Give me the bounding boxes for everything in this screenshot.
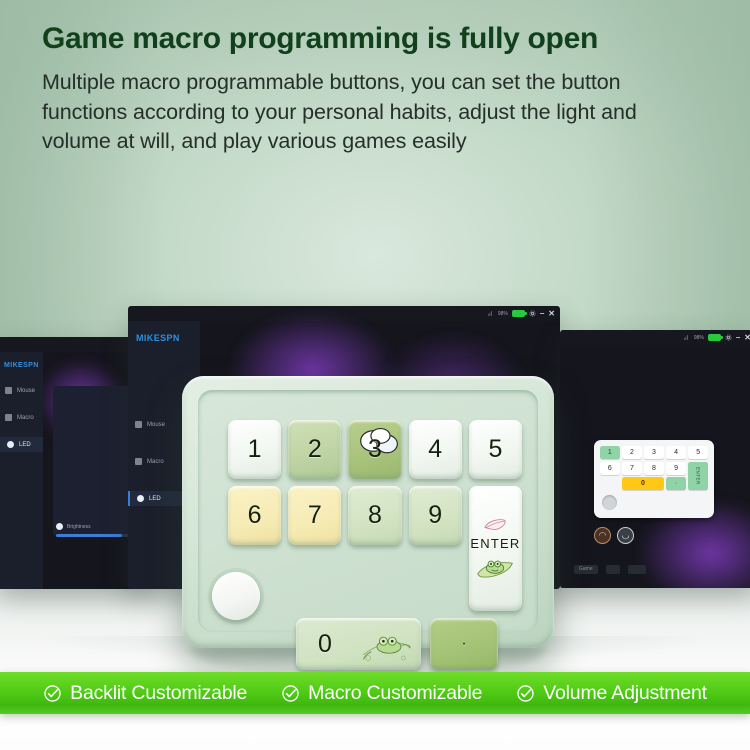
- feature-label: Backlit Customizable: [70, 682, 247, 705]
- key-3[interactable]: 3: [348, 420, 401, 479]
- key-label: 4: [428, 435, 442, 464]
- leaf-icon: [483, 518, 507, 531]
- key-label: ·: [461, 635, 466, 653]
- map-key-7[interactable]: 7: [622, 462, 642, 475]
- map-key-dot[interactable]: ·: [666, 477, 686, 490]
- key-label: 7: [308, 501, 322, 530]
- quick-icon-row: ◠ ◡: [594, 527, 634, 544]
- map-key-5[interactable]: 5: [688, 446, 708, 459]
- frog-icon: [475, 556, 515, 580]
- sidebar-item-label: Mouse: [17, 388, 35, 394]
- feature-volume: Volume Adjustment: [516, 682, 707, 705]
- volume-knob[interactable]: [212, 572, 260, 620]
- led-icon: [137, 495, 144, 502]
- mouse-icon: [5, 387, 12, 394]
- check-circle-icon: [516, 684, 535, 703]
- key-9[interactable]: 9: [409, 486, 462, 545]
- keypad-map-card: 1 2 3 4 5 6 7 8 9 ENTER 0 ·: [594, 440, 714, 518]
- gear-icon[interactable]: [725, 334, 732, 341]
- close-icon[interactable]: ✕: [548, 310, 555, 318]
- gear-icon[interactable]: [529, 310, 536, 317]
- sidebar-item-label: LED: [19, 442, 31, 448]
- key-7[interactable]: 7: [288, 486, 341, 545]
- titlebar-right: 98% – ✕: [560, 330, 750, 345]
- signal-icon: [683, 334, 690, 341]
- battery-percent: 98%: [694, 335, 704, 341]
- window-body-right: 1 2 3 4 5 6 7 8 9 ENTER 0 · ◠ ◡ Game: [560, 345, 750, 588]
- sidebar-item-label: Mouse: [147, 422, 165, 428]
- slider-track[interactable]: [56, 534, 136, 537]
- map-key-enter[interactable]: ENTER: [688, 462, 708, 491]
- feature-label: Volume Adjustment: [543, 682, 707, 705]
- feature-bar: Backlit Customizable Macro Customizable …: [0, 672, 750, 714]
- sidebar-item-label: Macro: [17, 415, 34, 421]
- slider-label: Brightness: [67, 524, 91, 530]
- feature-backlit: Backlit Customizable: [43, 682, 247, 705]
- key-4[interactable]: 4: [409, 420, 462, 479]
- copy-block: Game macro programming is fully open Mul…: [42, 22, 716, 157]
- page-description: Multiple macro programmable buttons, you…: [42, 68, 642, 157]
- key-label: ENTER: [470, 536, 520, 551]
- software-window-right[interactable]: 98% – ✕ 1 2 3 4 5 6 7 8 9 ENTER 0 ·: [560, 330, 750, 588]
- tab-tertiary[interactable]: [628, 565, 646, 574]
- keypad-body-inner: 1 2 3 4 5: [198, 390, 538, 632]
- map-key-3[interactable]: 3: [644, 446, 664, 459]
- close-icon[interactable]: ✕: [744, 334, 750, 342]
- slider-dot-icon: [56, 523, 63, 530]
- key-dot[interactable]: ·: [430, 618, 498, 670]
- sidebar-item-label: Macro: [147, 459, 164, 465]
- keypad-map-grid: 1 2 3 4 5 6 7 8 9 ENTER 0 ·: [600, 446, 708, 490]
- map-key-8[interactable]: 8: [644, 462, 664, 475]
- key-label: 5: [488, 435, 502, 464]
- key-label: 9: [428, 501, 442, 530]
- key-6[interactable]: 6: [228, 486, 281, 545]
- sidebar-item-macro[interactable]: Macro: [0, 410, 43, 425]
- minimize-icon[interactable]: –: [540, 310, 544, 318]
- key-0[interactable]: 0: [296, 618, 421, 670]
- bottom-tab-row: Game: [574, 565, 646, 574]
- battery-percent: 98%: [498, 311, 508, 317]
- sidebar-item-mouse[interactable]: Mouse: [0, 383, 43, 398]
- keypad-row-1: 1 2 3 4 5: [228, 420, 522, 479]
- map-key-4[interactable]: 4: [666, 446, 686, 459]
- feature-label: Macro Customizable: [308, 682, 482, 705]
- app-logo: MIKESPN: [128, 321, 200, 363]
- key-label: 0: [318, 630, 332, 659]
- slider-label-row: Brightness: [56, 523, 136, 530]
- page-title: Game macro programming is fully open: [42, 22, 716, 56]
- feature-macro: Macro Customizable: [281, 682, 482, 705]
- key-2[interactable]: 2: [288, 420, 341, 479]
- tab-game[interactable]: Game: [574, 565, 598, 574]
- tab-secondary[interactable]: [606, 565, 620, 574]
- profile-icon[interactable]: ◠: [594, 527, 611, 544]
- key-8[interactable]: 8: [348, 486, 401, 545]
- key-label: 6: [248, 501, 262, 530]
- key-label: 3: [368, 435, 382, 464]
- map-key-zero[interactable]: 0: [622, 477, 664, 490]
- slider-fill: [56, 534, 122, 537]
- key-enter[interactable]: ENTER: [469, 486, 522, 611]
- app-logo: MIKESPN: [0, 352, 43, 383]
- macro-icon: [135, 458, 142, 465]
- frog-icon: [357, 626, 413, 666]
- map-key-9[interactable]: 9: [666, 462, 686, 475]
- keypad-keys: 1 2 3 4 5: [228, 420, 522, 670]
- key-label: 8: [368, 501, 382, 530]
- save-icon[interactable]: ◡: [617, 527, 634, 544]
- macro-icon: [5, 414, 12, 421]
- key-5[interactable]: 5: [469, 420, 522, 479]
- map-volume-knob[interactable]: [602, 495, 617, 510]
- map-key-2[interactable]: 2: [622, 446, 642, 459]
- keypad-device: 1 2 3 4 5: [182, 376, 554, 648]
- key-label: 2: [308, 435, 322, 464]
- check-circle-icon: [43, 684, 62, 703]
- keypad-row-2: 6 7 8 9 ENTER: [228, 486, 522, 611]
- battery-icon: [512, 310, 525, 317]
- mouse-icon: [135, 421, 142, 428]
- key-1[interactable]: 1: [228, 420, 281, 479]
- key-label: 1: [248, 435, 262, 464]
- keypad-row-3: 0 ·: [296, 618, 522, 670]
- signal-icon: [487, 310, 494, 317]
- sidebar-item-led[interactable]: LED: [0, 437, 43, 452]
- brightness-slider-left[interactable]: Brightness: [56, 523, 136, 537]
- battery-icon: [708, 334, 721, 341]
- led-icon: [7, 441, 14, 448]
- check-circle-icon: [281, 684, 300, 703]
- map-key-6[interactable]: 6: [600, 462, 620, 475]
- sidebar-item-label: LED: [149, 496, 161, 502]
- minimize-icon[interactable]: –: [736, 334, 740, 342]
- map-key-1[interactable]: 1: [600, 446, 620, 459]
- sidebar-left: MIKESPN Mouse Macro LED: [0, 352, 43, 589]
